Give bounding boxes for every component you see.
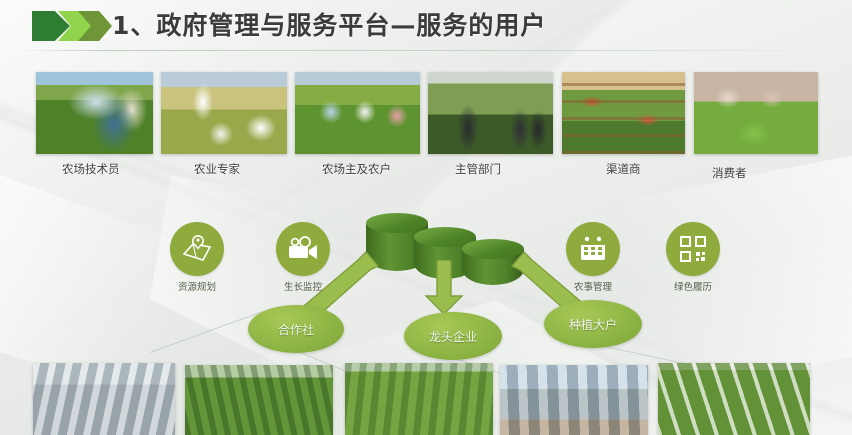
photo-label: 主管部门 — [455, 161, 501, 177]
photo-channel-vendor — [562, 72, 685, 154]
node-large-grower[interactable]: 种植大户 — [544, 300, 642, 348]
photo-seedling-beds — [658, 363, 810, 435]
icon-label: 绿色履历 — [662, 279, 724, 293]
photo-label: 消费者 — [712, 165, 747, 181]
photo-government-dept — [428, 72, 553, 154]
photo-label: 农业专家 — [194, 161, 240, 177]
photo-farm-owner — [295, 72, 420, 154]
photo-label: 农场主及农户 — [322, 161, 391, 177]
node-label: 龙头企业 — [429, 328, 477, 345]
title-divider — [20, 50, 832, 51]
connector-line — [150, 311, 263, 353]
photo-plastic-greenhouses — [33, 363, 175, 435]
chevron-logo — [32, 11, 110, 41]
node-cooperative[interactable]: 合作社 — [248, 305, 344, 353]
icon-label: 资源规划 — [166, 279, 228, 293]
photo-agri-expert — [161, 72, 287, 154]
map-pin-icon — [170, 222, 224, 276]
photo-leafy-crop-field — [345, 363, 493, 435]
node-label: 种植大户 — [569, 316, 617, 333]
photo-label: 渠道商 — [606, 161, 641, 177]
photo-vegetable-rows — [185, 365, 333, 435]
node-label: 合作社 — [278, 321, 314, 338]
photo-glass-greenhouse — [500, 365, 648, 435]
photo-consumer — [694, 72, 818, 154]
node-leading-enterprise[interactable]: 龙头企业 — [404, 312, 502, 360]
icon-green-traceability[interactable]: 绿色履历 — [662, 222, 724, 293]
slide-canvas: 1、政府管理与服务平台—服务的用户 农场技术员 农业专家 农场主及农户 主管部门… — [0, 0, 852, 435]
photo-farm-technician — [36, 72, 153, 154]
slide-header: 1、政府管理与服务平台—服务的用户 — [0, 0, 852, 52]
qr-code-icon — [666, 222, 720, 276]
arrow-to-leading-enterprise — [422, 260, 466, 316]
icon-resource-planning[interactable]: 资源规划 — [166, 222, 228, 293]
photo-label: 农场技术员 — [62, 161, 120, 177]
page-title: 1、政府管理与服务平台—服务的用户 — [112, 6, 546, 46]
